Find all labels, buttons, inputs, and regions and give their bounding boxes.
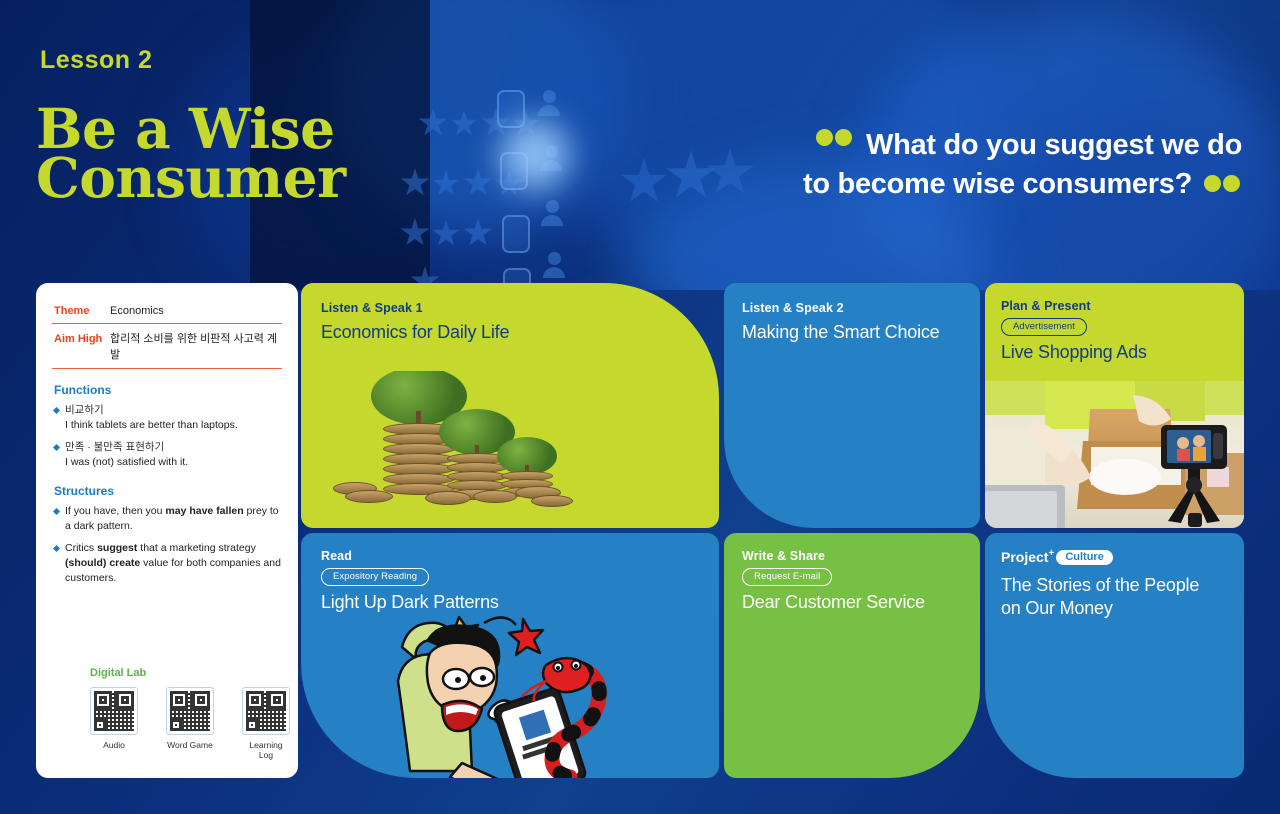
culture-chip: Culture	[1056, 550, 1113, 565]
card-project-culture[interactable]: Project + Culture The Stories of the Peo…	[985, 533, 1244, 778]
qr-label: Audio	[90, 740, 138, 750]
photo-illustration	[985, 381, 1244, 528]
card-eyebrow: Read	[321, 549, 699, 563]
card-title: Dear Customer Service	[742, 591, 962, 614]
essential-question-line1: What do you suggest we do	[803, 118, 1242, 164]
user-avatar-icon	[541, 200, 563, 226]
lesson-label: Lesson 2	[40, 46, 152, 75]
card-write-share[interactable]: Write & Share Request E-mail Dear Custom…	[724, 533, 980, 778]
cartoon-illustration	[396, 603, 626, 778]
card-eyebrow: Listen & Speak 1	[321, 301, 699, 315]
page-title-line2: Consumer	[36, 153, 346, 202]
aim-high-value: 합리적 소비를 위한 비판적 사고력 계발	[110, 330, 280, 362]
card-title-line1: The Stories of the People	[1001, 574, 1228, 597]
qr-code-icon[interactable]	[90, 687, 138, 735]
qr-item-word-game[interactable]: Word Game	[166, 687, 214, 760]
qr-code-icon[interactable]	[242, 687, 290, 735]
theme-row: Theme Economics	[52, 299, 282, 324]
structures-heading: Structures	[54, 484, 282, 498]
qr-item-learning-log[interactable]: Learning Log	[242, 687, 290, 760]
card-read[interactable]: Read Expository Reading Light Up Dark Pa…	[301, 533, 719, 778]
essential-question: What do you suggest we do to become wise…	[803, 118, 1242, 203]
structures-list: If you have, then you may have fallen pr…	[52, 504, 282, 586]
live-shopping-unboxing-photo	[985, 381, 1244, 528]
list-item: Critics suggest that a marketing strateg…	[52, 541, 282, 586]
aim-high-label: Aim High	[54, 333, 110, 345]
card-title: Live Shopping Ads	[1001, 341, 1228, 364]
function-en: I was (not) satisfied with it.	[65, 455, 282, 470]
theme-label: Theme	[54, 305, 110, 317]
qr-code-icon[interactable]	[166, 687, 214, 735]
card-badge: Advertisement	[1001, 318, 1087, 336]
function-ko: 만족 · 불만족 표현하기	[65, 440, 282, 455]
qr-label: Learning Log	[242, 740, 290, 760]
card-title-line2: on Our Money	[1001, 597, 1228, 620]
card-title: Making the Smart Choice	[742, 321, 962, 344]
function-en: I think tablets are better than laptops.	[65, 418, 282, 433]
qr-code-row: Audio Word Game Learning Log	[90, 687, 280, 760]
card-eyebrow: Listen & Speak 2	[742, 301, 962, 315]
plus-icon: +	[1048, 548, 1054, 559]
loose-coin	[473, 490, 517, 503]
coins-and-trees-photo	[315, 371, 585, 511]
project-culture-brand: Project + Culture	[1001, 549, 1228, 565]
card-eyebrow: Plan & Present	[1001, 299, 1228, 313]
card-title: Economics for Daily Life	[321, 321, 699, 344]
aim-high-row: Aim High 합리적 소비를 위한 비판적 사고력 계발	[52, 324, 282, 369]
card-plan-present[interactable]: Plan & Present Advertisement Live Shoppi…	[985, 283, 1244, 528]
qr-item-audio[interactable]: Audio	[90, 687, 138, 760]
user-avatar-icon	[538, 90, 560, 116]
qr-label: Word Game	[166, 740, 214, 750]
card-badge: Expository Reading	[321, 568, 429, 586]
theme-value: Economics	[110, 305, 164, 317]
project-word: Project	[1001, 549, 1048, 565]
loose-coin	[425, 491, 471, 505]
list-item: If you have, then you may have fallen pr…	[52, 504, 282, 534]
bg-glow	[500, 120, 570, 190]
loose-coin	[345, 490, 393, 503]
card-listen-speak-1[interactable]: Listen & Speak 1 Economics for Daily Lif…	[301, 283, 719, 528]
list-item: 비교하기 I think tablets are better than lap…	[52, 403, 282, 433]
lesson-info-card: Theme Economics Aim High 합리적 소비를 위한 비판적 …	[36, 283, 298, 778]
list-item: 만족 · 불만족 표현하기 I was (not) satisfied with…	[52, 440, 282, 470]
tablet-outline-icon	[502, 215, 530, 253]
digital-lab-section: Digital Lab Audio Word Game Learning Log	[54, 667, 280, 760]
card-eyebrow: Write & Share	[742, 549, 962, 563]
structure-sentence: If you have, then you may have fallen pr…	[65, 504, 282, 534]
quote-open-icon	[816, 118, 854, 156]
card-listen-speak-2[interactable]: Listen & Speak 2 Making the Smart Choice	[724, 283, 980, 528]
page-title: Be a Wise Consumer	[36, 104, 346, 202]
quote-close-icon	[1204, 164, 1242, 202]
user-avatar-icon	[543, 252, 565, 278]
digital-lab-title: Digital Lab	[90, 667, 280, 679]
loose-coin	[531, 495, 573, 507]
angry-person-phone-snake-illustration	[396, 603, 626, 778]
card-badge: Request E-mail	[742, 568, 832, 586]
functions-list: 비교하기 I think tablets are better than lap…	[52, 403, 282, 470]
functions-heading: Functions	[54, 383, 282, 397]
essential-question-line2: to become wise consumers?	[803, 164, 1242, 203]
function-ko: 비교하기	[65, 403, 282, 418]
structure-sentence: Critics suggest that a marketing strateg…	[65, 541, 282, 586]
